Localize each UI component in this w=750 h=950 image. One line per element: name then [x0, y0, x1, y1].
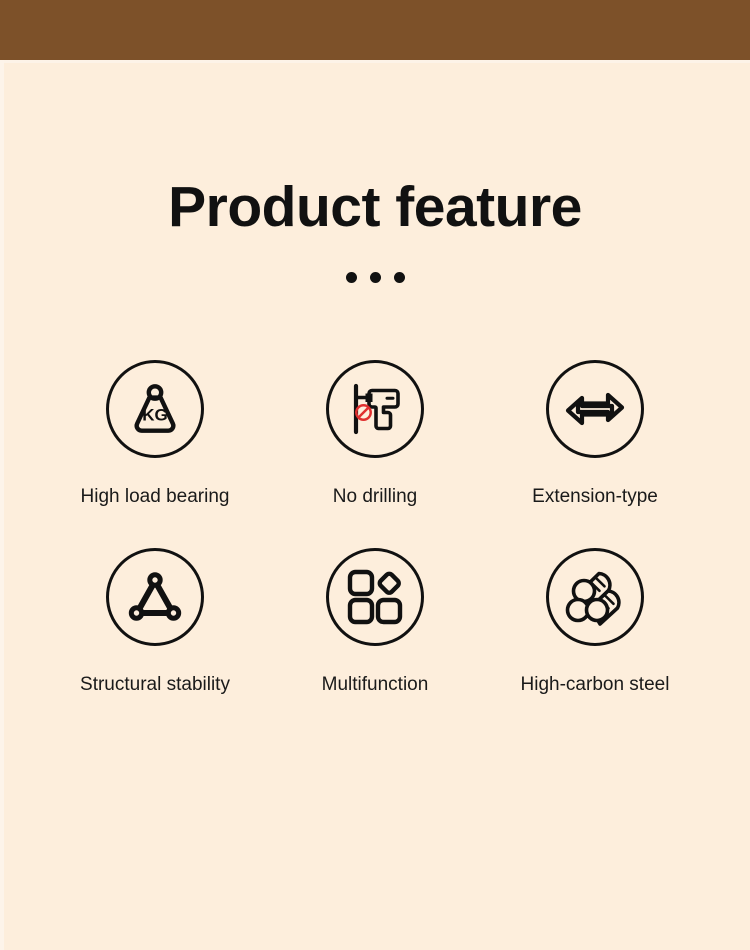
triangle-nodes-icon	[124, 568, 186, 626]
divider-dot	[346, 272, 357, 283]
top-brown-band	[0, 0, 750, 60]
feature-icon-circle	[546, 548, 644, 646]
prohibition-badge	[356, 405, 370, 419]
feature-label: High load bearing	[81, 486, 230, 508]
feature-icon-circle	[326, 360, 424, 458]
divider-dots	[0, 272, 750, 283]
no-drilling-icon	[343, 377, 407, 441]
feature-label: No drilling	[333, 486, 417, 508]
svg-text:KG: KG	[142, 406, 168, 425]
feature-icon-circle	[546, 360, 644, 458]
extension-arrows-icon	[564, 381, 626, 437]
weight-kg-icon: KG	[124, 378, 186, 440]
divider-dot	[370, 272, 381, 283]
product-feature-page: Product feature KG High load bearin	[0, 0, 750, 950]
feature-item: No drilling	[265, 360, 485, 508]
feature-item: Multifunction	[265, 548, 485, 696]
feature-icon-circle	[106, 548, 204, 646]
feature-item: High-carbon steel	[485, 548, 705, 696]
feature-item: Extension-type	[485, 360, 705, 508]
feature-label: Extension-type	[532, 486, 658, 508]
feature-label: High-carbon steel	[521, 674, 670, 696]
feature-item: Structural stability	[45, 548, 265, 696]
steel-tubes-icon	[564, 566, 626, 628]
feature-grid: KG High load bearing	[45, 360, 705, 696]
feature-icon-circle: KG	[106, 360, 204, 458]
page-title: Product feature	[0, 178, 750, 238]
divider-dot	[394, 272, 405, 283]
feature-item: KG High load bearing	[45, 360, 265, 508]
band-underline	[0, 60, 750, 63]
four-shapes-icon	[346, 568, 404, 626]
feature-icon-circle	[326, 548, 424, 646]
feature-label: Multifunction	[322, 674, 429, 696]
feature-label: Structural stability	[80, 674, 230, 696]
